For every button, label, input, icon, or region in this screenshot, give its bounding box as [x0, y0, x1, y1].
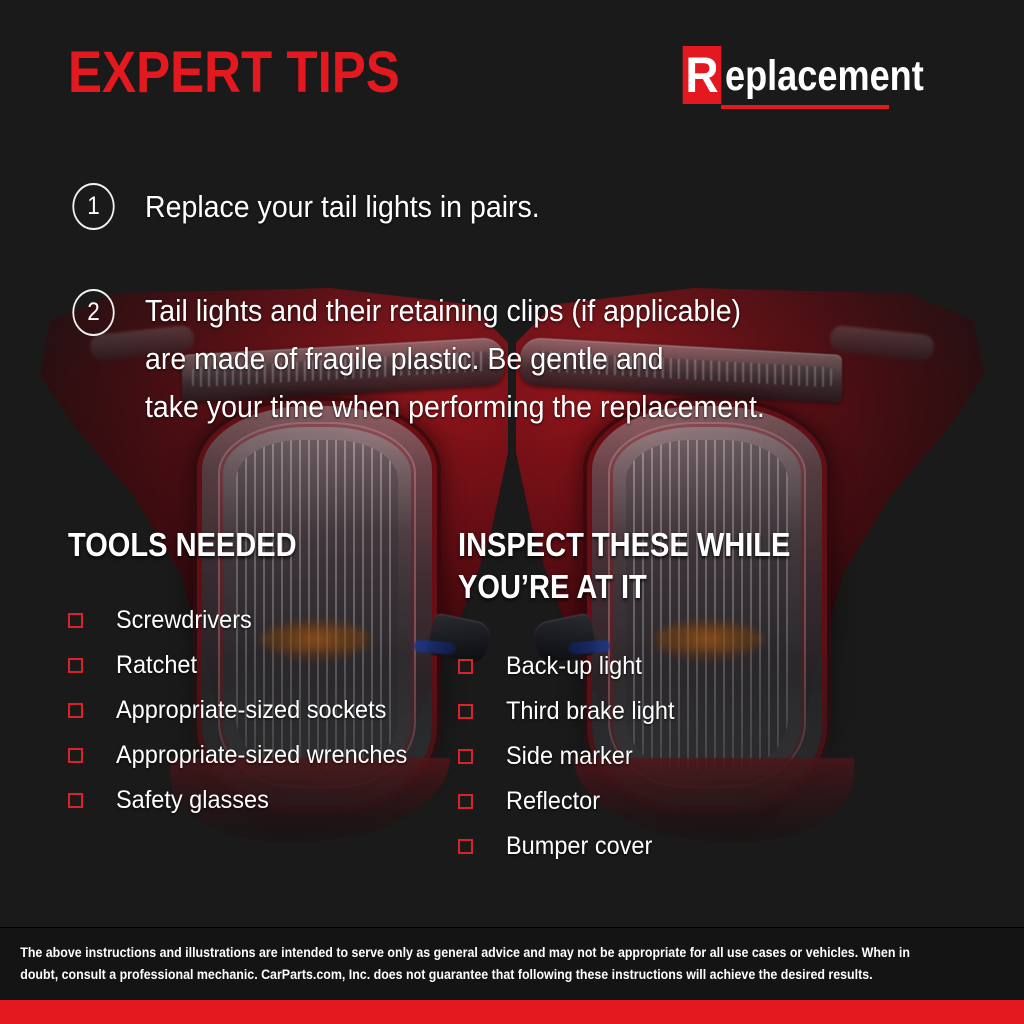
page-title: EXPERT TIPS [68, 44, 400, 102]
logo-initial: R [683, 46, 722, 104]
section-heading: INSPECT THESE WHILE YOU’RE AT IT [458, 524, 828, 608]
checkbox-icon [68, 703, 83, 718]
list-item-label: Appropriate-sized sockets [116, 698, 386, 723]
checkbox-icon [458, 749, 473, 764]
expert-tips-infographic: EXPERT TIPS R eplacement 1 Replace your … [0, 0, 1024, 1024]
brand-logo[interactable]: R eplacement [681, 46, 962, 108]
list-item: Reflector [458, 779, 878, 824]
section-inspect-these: INSPECT THESE WHILE YOU’RE AT IT Back-up… [458, 524, 878, 869]
tip-item-2: 2 Tail lights and their retaining clips … [70, 287, 819, 431]
list-item-label: Appropriate-sized wrenches [116, 743, 407, 768]
list-item: Side marker [458, 734, 878, 779]
list-item-label: Side marker [506, 744, 633, 769]
logo-wordmark: eplacement [725, 55, 924, 98]
footer-accent-bar [0, 1000, 1024, 1024]
checkbox-icon [68, 658, 83, 673]
list-item: Bumper cover [458, 824, 878, 869]
list-item: Back-up light [458, 644, 878, 689]
list-item: Appropriate-sized sockets [68, 688, 468, 733]
list-item: Ratchet [68, 643, 468, 688]
list-item: Safety glasses [68, 778, 468, 823]
checkbox-icon [458, 704, 473, 719]
disclaimer-text: The above instructions and illustrations… [0, 942, 942, 986]
checkbox-icon [68, 793, 83, 808]
logo-underline [721, 105, 889, 109]
tip-number-badge: 2 [72, 289, 114, 336]
list-item: Screwdrivers [68, 598, 468, 643]
checkbox-icon [458, 794, 473, 809]
list-item-label: Bumper cover [506, 834, 652, 859]
checkbox-icon [68, 613, 83, 628]
tools-list: Screwdrivers Ratchet Appropriate-sized s… [68, 598, 468, 823]
list-item-label: Ratchet [116, 653, 197, 678]
tip-item-1: 1 Replace your tail lights in pairs. [70, 183, 574, 231]
list-item-label: Third brake light [506, 699, 674, 724]
footer-disclaimer-bar: The above instructions and illustrations… [0, 927, 1024, 1000]
tip-number-badge: 1 [72, 183, 114, 230]
list-item: Third brake light [458, 689, 878, 734]
list-item-label: Screwdrivers [116, 608, 252, 633]
list-item-label: Safety glasses [116, 788, 269, 813]
list-item-label: Reflector [506, 789, 600, 814]
checkbox-icon [458, 839, 473, 854]
inspect-list: Back-up light Third brake light Side mar… [458, 644, 878, 869]
tip-text: Tail lights and their retaining clips (i… [145, 287, 765, 431]
list-item-label: Back-up light [506, 654, 642, 679]
checkbox-icon [68, 748, 83, 763]
tip-text: Replace your tail lights in pairs. [145, 183, 540, 231]
list-item: Appropriate-sized wrenches [68, 733, 468, 778]
checkbox-icon [458, 659, 473, 674]
section-tools-needed: TOOLS NEEDED Screwdrivers Ratchet Approp… [68, 524, 468, 823]
section-heading: TOOLS NEEDED [68, 524, 420, 566]
